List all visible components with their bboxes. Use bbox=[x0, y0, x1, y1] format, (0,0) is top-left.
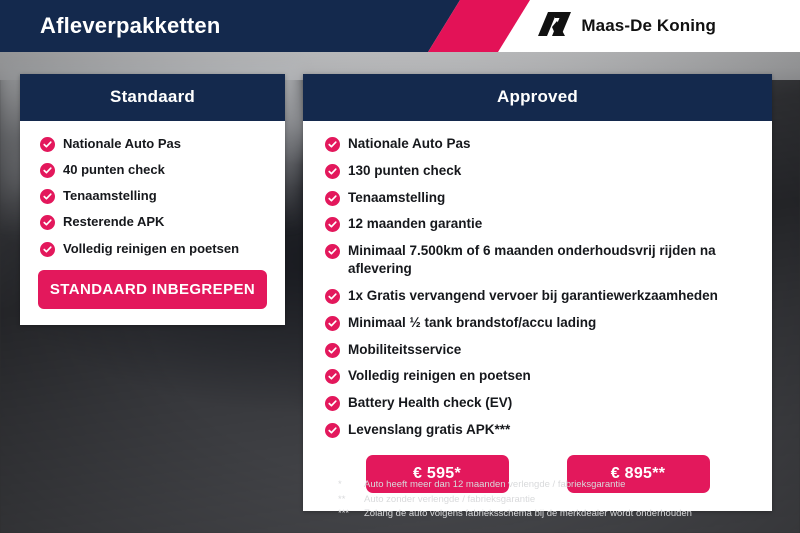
list-item: Tenaamstelling bbox=[303, 189, 772, 207]
list-item: Minimaal ½ tank brandstof/accu lading bbox=[303, 314, 772, 332]
list-item: 130 punten check bbox=[303, 162, 772, 180]
footnote-text: Auto heeft meer dan 12 maanden verlengde… bbox=[364, 478, 625, 493]
check-circle-icon bbox=[40, 189, 55, 204]
list-item: Volledig reinigen en poetsen bbox=[20, 240, 285, 257]
check-circle-icon bbox=[40, 215, 55, 230]
feature-label: Minimaal 7.500km of 6 maanden onderhouds… bbox=[348, 242, 772, 278]
check-circle-icon bbox=[325, 217, 340, 232]
feature-label: 130 punten check bbox=[348, 162, 461, 180]
check-circle-icon bbox=[325, 191, 340, 206]
check-circle-icon bbox=[325, 343, 340, 358]
feature-label: Minimaal ½ tank brandstof/accu lading bbox=[348, 314, 596, 332]
promo-page: Afleverpakketten Maas-De Koning Standaar… bbox=[0, 0, 800, 533]
check-circle-icon bbox=[40, 163, 55, 178]
feature-label: Nationale Auto Pas bbox=[63, 135, 181, 152]
package-card-approved: Approved Nationale Auto Pas 130 punten c… bbox=[303, 74, 772, 511]
page-title: Afleverpakketten bbox=[40, 0, 221, 52]
check-circle-icon bbox=[325, 369, 340, 384]
feature-label: 12 maanden garantie bbox=[348, 215, 482, 233]
card-body-approved: Nationale Auto Pas 130 punten check Tena… bbox=[303, 121, 772, 493]
list-item: 40 punten check bbox=[20, 161, 285, 178]
maas-de-koning-m-logo-icon bbox=[538, 11, 572, 42]
feature-label: 40 punten check bbox=[63, 161, 165, 178]
check-circle-icon bbox=[325, 164, 340, 179]
list-item: 1x Gratis vervangend vervoer bij garanti… bbox=[303, 287, 772, 305]
page-header: Afleverpakketten Maas-De Koning bbox=[0, 0, 800, 52]
check-circle-icon bbox=[325, 289, 340, 304]
feature-label: Tenaamstelling bbox=[348, 189, 445, 207]
feature-label: Mobiliteitsservice bbox=[348, 341, 461, 359]
standaard-inbegrepen-button[interactable]: STANDAARD INBEGREPEN bbox=[38, 270, 267, 309]
list-item: Nationale Auto Pas bbox=[20, 135, 285, 152]
footnote-item: * Auto heeft meer dan 12 maanden verleng… bbox=[338, 478, 768, 493]
feature-list-standaard: Nationale Auto Pas 40 punten check Tenaa… bbox=[20, 135, 285, 257]
feature-label: Volledig reinigen en poetsen bbox=[63, 240, 239, 257]
feature-label: Volledig reinigen en poetsen bbox=[348, 367, 531, 385]
list-item: Nationale Auto Pas bbox=[303, 135, 772, 153]
list-item: Resterende APK bbox=[20, 213, 285, 230]
footnote-item: ** Auto zonder verlengde / fabrieksgaran… bbox=[338, 493, 768, 508]
feature-label: Levenslang gratis APK*** bbox=[348, 421, 510, 439]
footnote-item: *** Zolang de auto volgens fabrieksschem… bbox=[338, 507, 768, 522]
check-circle-icon bbox=[325, 423, 340, 438]
list-item: Mobiliteitsservice bbox=[303, 341, 772, 359]
brand-name: Maas-De Koning bbox=[581, 16, 716, 36]
brand-logo: Maas-De Koning bbox=[538, 0, 716, 52]
footnote-marker: * bbox=[338, 478, 364, 493]
package-card-standaard: Standaard Nationale Auto Pas 40 punten c… bbox=[20, 74, 285, 325]
check-circle-icon bbox=[40, 137, 55, 152]
list-item: Volledig reinigen en poetsen bbox=[303, 367, 772, 385]
footnote-marker: *** bbox=[338, 507, 364, 522]
feature-label: Tenaamstelling bbox=[63, 187, 157, 204]
feature-label: Nationale Auto Pas bbox=[348, 135, 471, 153]
footnotes: * Auto heeft meer dan 12 maanden verleng… bbox=[338, 478, 768, 522]
footnote-marker: ** bbox=[338, 493, 364, 508]
feature-label: Battery Health check (EV) bbox=[348, 394, 512, 412]
check-circle-icon bbox=[40, 242, 55, 257]
card-title-approved: Approved bbox=[303, 74, 772, 121]
feature-list-approved: Nationale Auto Pas 130 punten check Tena… bbox=[303, 135, 772, 439]
feature-label: Resterende APK bbox=[63, 213, 164, 230]
list-item: 12 maanden garantie bbox=[303, 215, 772, 233]
list-item: Battery Health check (EV) bbox=[303, 394, 772, 412]
footnote-text: Auto zonder verlengde / fabrieksgarantie bbox=[364, 493, 535, 508]
card-body-standaard: Nationale Auto Pas 40 punten check Tenaa… bbox=[20, 121, 285, 309]
card-title-standaard: Standaard bbox=[20, 74, 285, 121]
check-circle-icon bbox=[325, 396, 340, 411]
list-item: Tenaamstelling bbox=[20, 187, 285, 204]
list-item: Minimaal 7.500km of 6 maanden onderhouds… bbox=[303, 242, 772, 278]
check-circle-icon bbox=[325, 137, 340, 152]
footnote-text: Zolang de auto volgens fabrieksschema bi… bbox=[364, 507, 692, 522]
feature-label: 1x Gratis vervangend vervoer bij garanti… bbox=[348, 287, 718, 305]
check-circle-icon bbox=[325, 244, 340, 259]
list-item: Levenslang gratis APK*** bbox=[303, 421, 772, 439]
check-circle-icon bbox=[325, 316, 340, 331]
